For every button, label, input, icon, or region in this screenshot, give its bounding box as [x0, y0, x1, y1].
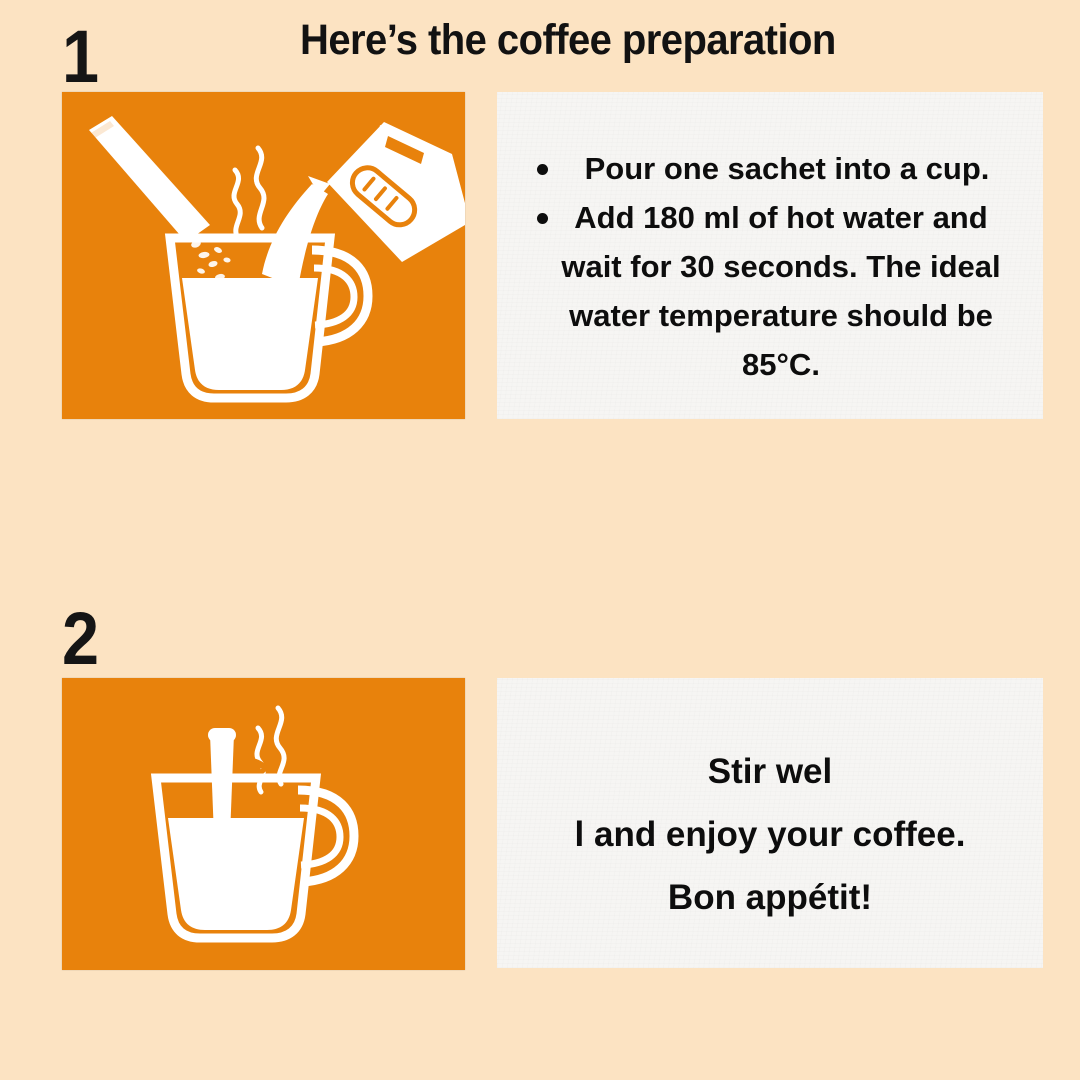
- steam-icon: [234, 148, 264, 238]
- list-item: Pour one sachet into a cup.: [519, 144, 1009, 193]
- closing-line: l and enjoy your coffee.: [507, 803, 1033, 866]
- closing-line: Bon appétit!: [507, 866, 1033, 929]
- step-number-1: 1: [62, 20, 99, 94]
- list-item-text: Add 180 ml of hot water and wait for 30 …: [561, 200, 1000, 382]
- step-1-text-panel: Pour one sachet into a cup. Add 180 ml o…: [497, 92, 1043, 419]
- list-item: Add 180 ml of hot water and wait for 30 …: [519, 193, 1009, 389]
- step-number-2: 2: [62, 602, 99, 676]
- kettle-icon: [262, 122, 465, 288]
- step-1-bullet-list: Pour one sachet into a cup. Add 180 ml o…: [497, 92, 1043, 389]
- step-1-illustration: [62, 92, 465, 419]
- step-1-block: 1: [0, 0, 1080, 470]
- coffee-sachet-icon: [89, 116, 210, 242]
- bullet-dot-icon: [537, 213, 548, 224]
- closing-line: Stir wel: [507, 740, 1033, 803]
- pour-sachet-and-water-icon: [62, 92, 465, 419]
- bullet-dot-icon: [537, 164, 548, 175]
- step-2-illustration: [62, 678, 465, 970]
- glass-mug-icon: [156, 778, 354, 938]
- step-2-block: 2: [0, 586, 1080, 986]
- step-2-closing-text: Stir wel l and enjoy your coffee. Bon ap…: [497, 678, 1043, 929]
- list-item-text: Pour one sachet into a cup.: [585, 151, 990, 186]
- step-2-text-panel: Stir wel l and enjoy your coffee. Bon ap…: [497, 678, 1043, 968]
- stir-cup-icon: [62, 678, 465, 970]
